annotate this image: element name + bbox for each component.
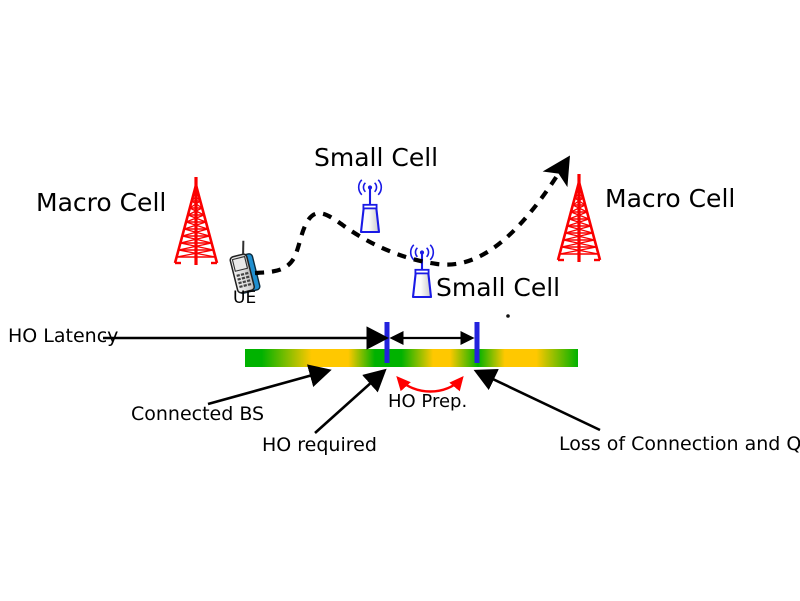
ho-required-label: HO required — [262, 436, 377, 455]
small-cell-top-label: Small Cell — [314, 145, 438, 170]
macro-cell-right-label: Macro Cell — [605, 186, 735, 211]
loss-of-connection-label: Loss of Connection and QoS — [559, 435, 800, 454]
small-cell-bottom-label: Small Cell — [436, 275, 560, 300]
small-cell-bottom-icon — [411, 245, 434, 297]
small-cell-top-icon — [359, 180, 382, 232]
diagram-canvas: Macro Cell Macro Cell Small Cell Small C… — [0, 0, 800, 601]
ho-latency-label: HO Latency — [8, 327, 118, 346]
ue-phone-icon — [226, 240, 260, 295]
ue-label: UE — [233, 290, 256, 307]
connected-bs-label: Connected BS — [131, 405, 264, 424]
ue-movement-path — [255, 165, 564, 273]
stray-dot-artifact — [506, 314, 510, 318]
loss-of-connection-pointer — [478, 372, 600, 430]
macro-cell-left-label: Macro Cell — [36, 190, 166, 215]
ho-prep-label: HO Prep. — [388, 393, 467, 411]
ho-prep-arc-arrow — [398, 378, 462, 392]
macro-cell-right-icon — [558, 174, 600, 262]
connected-bs-pointer — [208, 371, 327, 404]
ho-required-pointer — [315, 372, 383, 433]
macro-cell-left-icon — [175, 177, 217, 265]
diagram-vector-layer — [0, 0, 800, 601]
signal-quality-bar — [245, 349, 578, 367]
